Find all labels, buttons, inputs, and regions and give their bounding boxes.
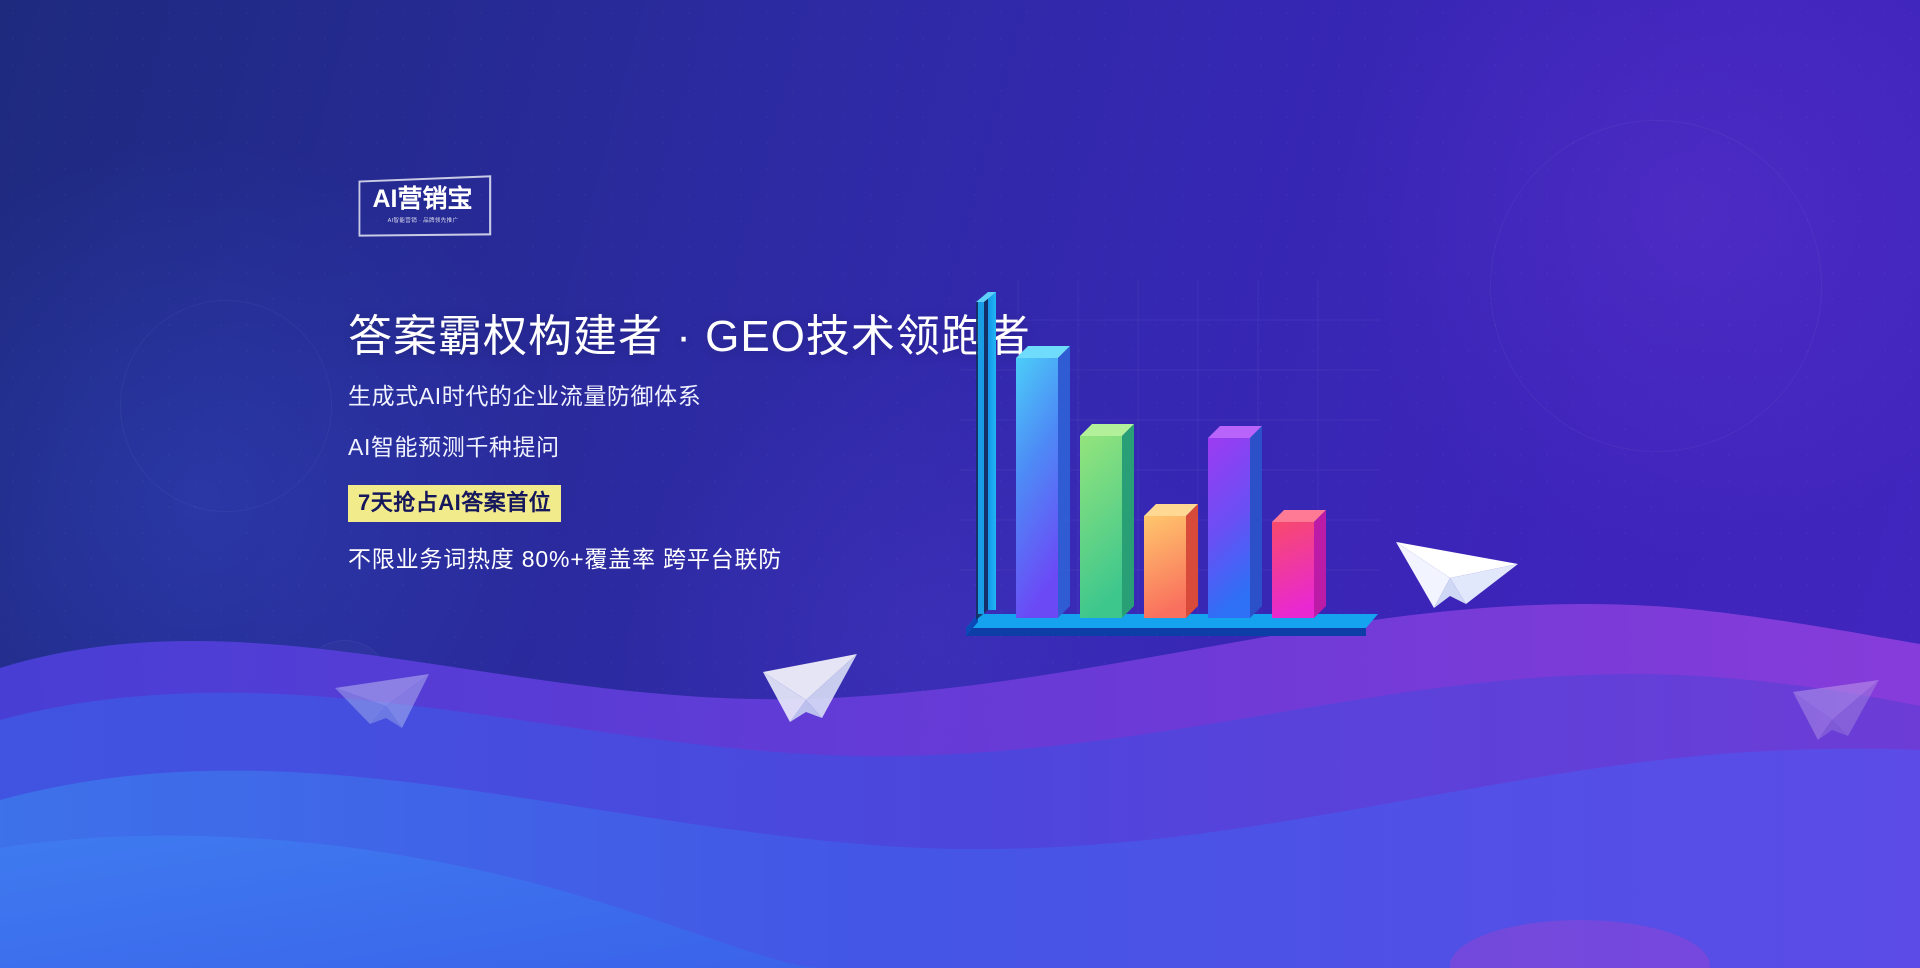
paper-plane-icon <box>1790 672 1882 748</box>
logo-wordmark: AI营销宝 <box>372 187 472 212</box>
chart-bar-1 <box>1016 346 1070 618</box>
highlight-badge: 7天抢占AI答案首位 <box>348 485 561 522</box>
chart-y-axis <box>976 292 996 620</box>
chart-bar-3 <box>1144 504 1198 618</box>
chart-bar-5 <box>1272 510 1326 618</box>
hero-banner: AI营销宝 AI智能营销 · 品牌领先推广 答案霸权构建者 · GEO技术领跑者… <box>0 0 1920 968</box>
decorative-circle <box>120 300 332 512</box>
bar-chart-illustration <box>960 280 1380 660</box>
wave-layer-blue <box>0 749 1920 968</box>
chart-bars <box>960 280 1380 660</box>
logo-tagline: AI智能营销 · 品牌领先推广 <box>387 218 458 224</box>
decorative-circle <box>300 640 390 730</box>
paper-plane-icon <box>332 652 432 734</box>
background-glow-right <box>1340 0 1920 560</box>
wave-bloom-magenta <box>1450 920 1710 968</box>
wave-layer-indigo <box>0 674 1920 968</box>
chart-bar-4 <box>1208 426 1262 618</box>
chart-bar-2 <box>1080 424 1134 618</box>
brand-logo[interactable]: AI营销宝 AI智能营销 · 品牌领先推广 <box>355 178 490 236</box>
paper-plane-icon <box>1392 512 1522 617</box>
paper-plane-icon <box>760 648 860 730</box>
wave-layer-highlight <box>0 836 820 968</box>
decorative-circle <box>1490 120 1822 452</box>
